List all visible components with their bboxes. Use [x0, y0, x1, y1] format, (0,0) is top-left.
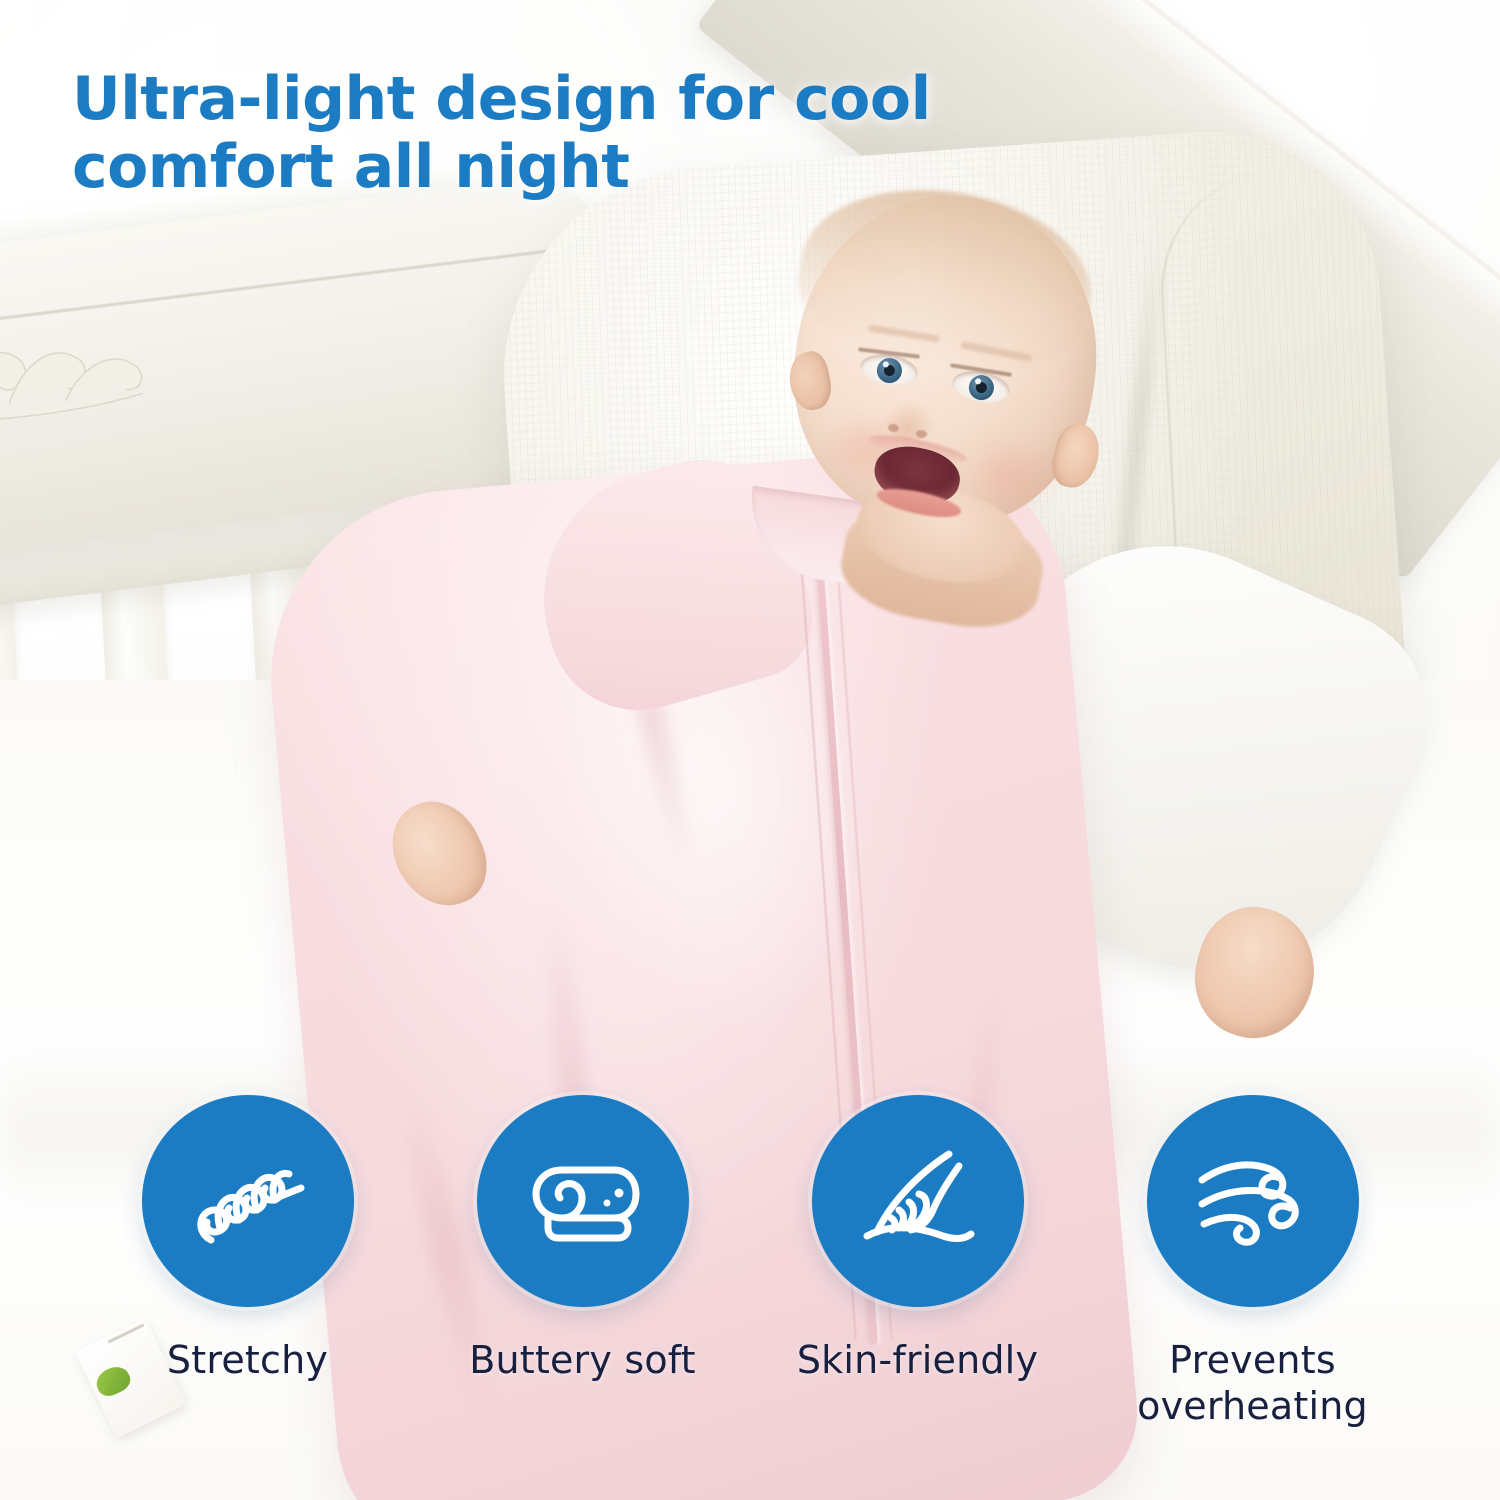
spring-coil-icon: [183, 1136, 313, 1266]
headline-line-2: comfort all night: [72, 134, 1152, 202]
feature-label: Stretchy: [167, 1337, 328, 1383]
feature-label: Prevents overheating: [1137, 1337, 1368, 1430]
fabric-roll-icon: [518, 1136, 648, 1266]
wind-airflow-icon: [1188, 1136, 1318, 1266]
feature-label-line-2: overheating: [1137, 1384, 1368, 1428]
hand-touch-icon: [853, 1136, 983, 1266]
feature-label: Skin-friendly: [797, 1337, 1038, 1383]
feature-buttery-soft: Buttery soft: [415, 1095, 750, 1383]
feature-label: Buttery soft: [469, 1337, 696, 1383]
feature-badge-circle: [812, 1095, 1024, 1307]
feature-prevents-overheating: Prevents overheating: [1085, 1095, 1420, 1430]
iris: [967, 373, 996, 402]
feature-badge-circle: [1147, 1095, 1359, 1307]
product-feature-image: Ultra-light design for cool comfort all …: [0, 0, 1500, 1500]
feature-badge-circle: [477, 1095, 689, 1307]
feature-label-line-1: Prevents: [1169, 1338, 1336, 1382]
feature-badge-circle: [142, 1095, 354, 1307]
baby-cheek: [964, 440, 1056, 510]
iris: [875, 356, 904, 385]
feature-skin-friendly: Skin-friendly: [750, 1095, 1085, 1383]
feature-badge-row: Stretchy Buttery soft: [0, 1095, 1500, 1485]
feature-stretchy: Stretchy: [80, 1095, 415, 1383]
page-title: Ultra-light design for cool comfort all …: [72, 66, 1152, 202]
headline-line-1: Ultra-light design for cool: [72, 66, 1152, 134]
